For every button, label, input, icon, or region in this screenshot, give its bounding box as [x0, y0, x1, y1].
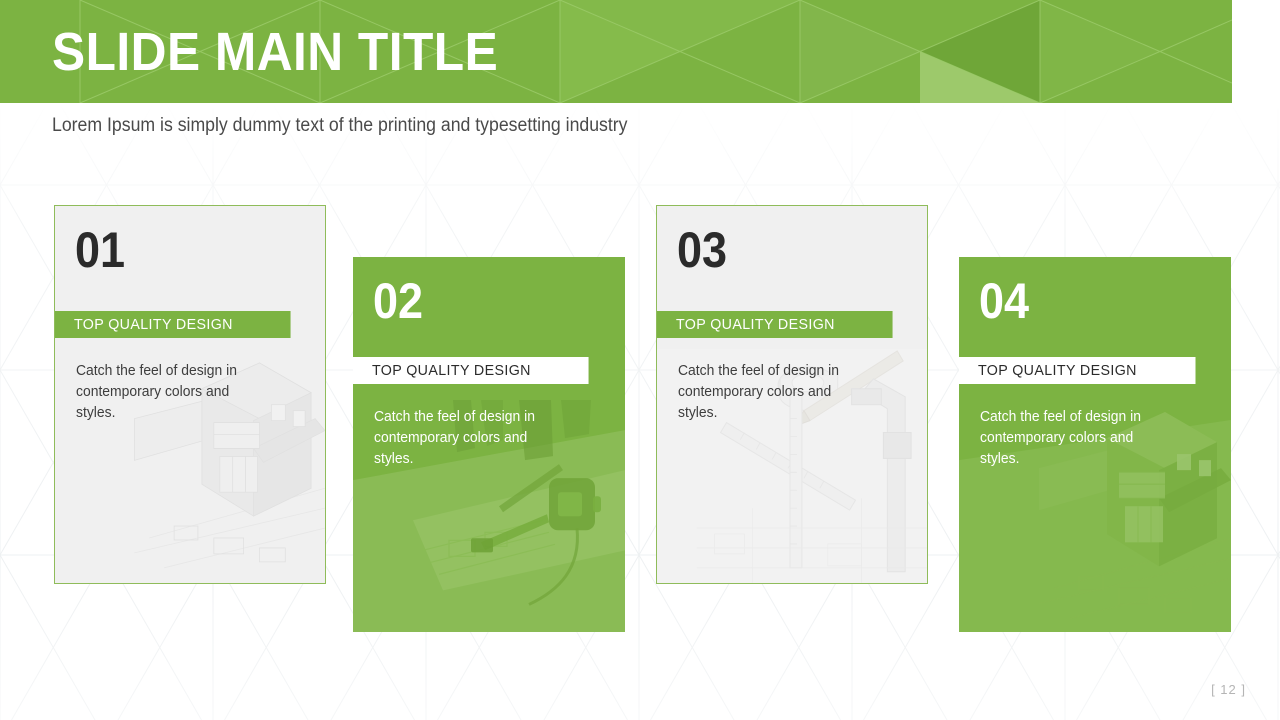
card-number: 04	[979, 275, 1029, 327]
page-number: [ 12 ]	[1211, 682, 1246, 697]
card-number: 01	[75, 224, 125, 276]
feature-card-02[interactable]: 02 TOP QUALITY DESIGN Catch the feel of …	[353, 257, 625, 632]
feature-card-03[interactable]: 03 TOP QUALITY DESIGN Catch the feel of …	[656, 205, 928, 584]
card-number: 02	[373, 275, 423, 327]
feature-card-04[interactable]: 04 TOP QUALITY DESIGN Catch the feel of …	[959, 257, 1231, 632]
card-label-bar: TOP QUALITY DESIGN	[959, 357, 1196, 384]
card-label-bar: TOP QUALITY DESIGN	[353, 357, 589, 384]
page-title: SLIDE MAIN TITLE	[52, 22, 498, 82]
card-body-text: Catch the feel of design in contemporary…	[374, 407, 552, 470]
card-number: 03	[677, 224, 727, 276]
feature-card-01[interactable]: 01 TOP QUALITY DESIGN Catch the feel of …	[54, 205, 326, 584]
card-label-bar: TOP QUALITY DESIGN	[54, 311, 291, 338]
slide-canvas: SLIDE MAIN TITLE Lorem Ipsum is simply d…	[0, 0, 1280, 720]
card-body-text: Catch the feel of design in contemporary…	[980, 407, 1158, 470]
header-band: SLIDE MAIN TITLE	[0, 0, 1232, 103]
slide-subtitle: Lorem Ipsum is simply dummy text of the …	[52, 114, 628, 138]
card-label-bar: TOP QUALITY DESIGN	[656, 311, 893, 338]
card-body-text: Catch the feel of design in contemporary…	[678, 361, 856, 424]
card-body-text: Catch the feel of design in contemporary…	[76, 361, 254, 424]
